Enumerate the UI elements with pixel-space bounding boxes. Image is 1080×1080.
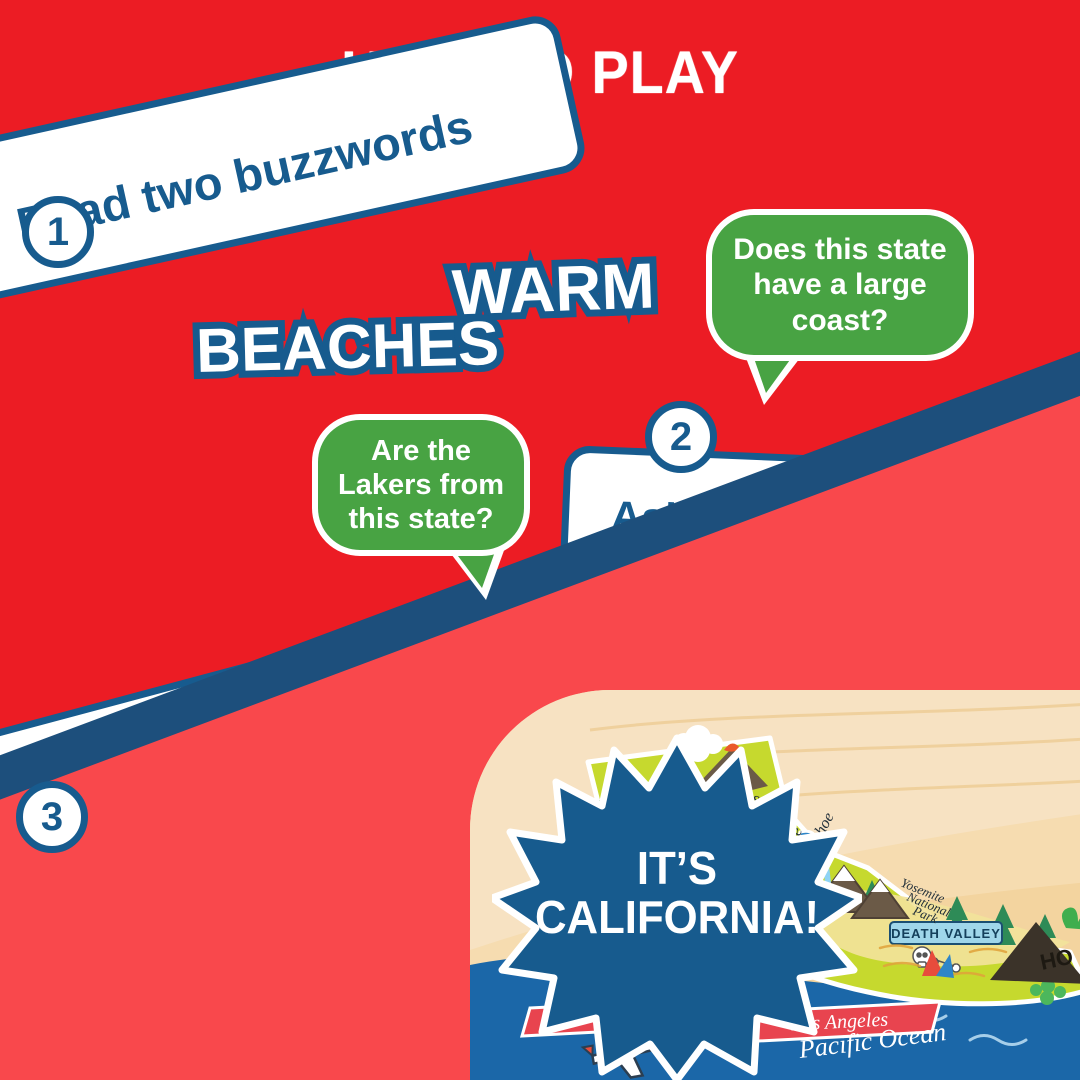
step-1-number: 1 — [22, 196, 94, 268]
poster-canvas: HOW TO PLAY — [0, 0, 1080, 1080]
speech-bubble-coast-body: Does this state have a large coast? — [706, 209, 974, 361]
svg-text:DEATH VALLEY: DEATH VALLEY — [891, 926, 1001, 941]
step-3-number: 3 — [16, 781, 88, 853]
answer-line-2: CALIFORNIA! — [501, 893, 853, 942]
answer-text: IT’S CALIFORNIA! — [501, 844, 853, 942]
speech-bubble-coast: Does this state have a large coast? — [706, 209, 974, 361]
speech-bubble-lakers: Are the Lakers from this state? — [312, 414, 530, 556]
buzzword-beaches: BEACHES — [195, 308, 500, 387]
speech-bubble-lakers-body: Are the Lakers from this state? — [312, 414, 530, 556]
step-2-number: 2 — [645, 401, 717, 473]
speech-bubble-lakers-text: Are the Lakers from this state? — [336, 434, 506, 537]
answer-starburst: IT’S CALIFORNIA! — [492, 732, 862, 1080]
answer-line-1: IT’S — [501, 844, 853, 893]
speech-bubble-coast-text: Does this state have a large coast? — [730, 232, 950, 338]
